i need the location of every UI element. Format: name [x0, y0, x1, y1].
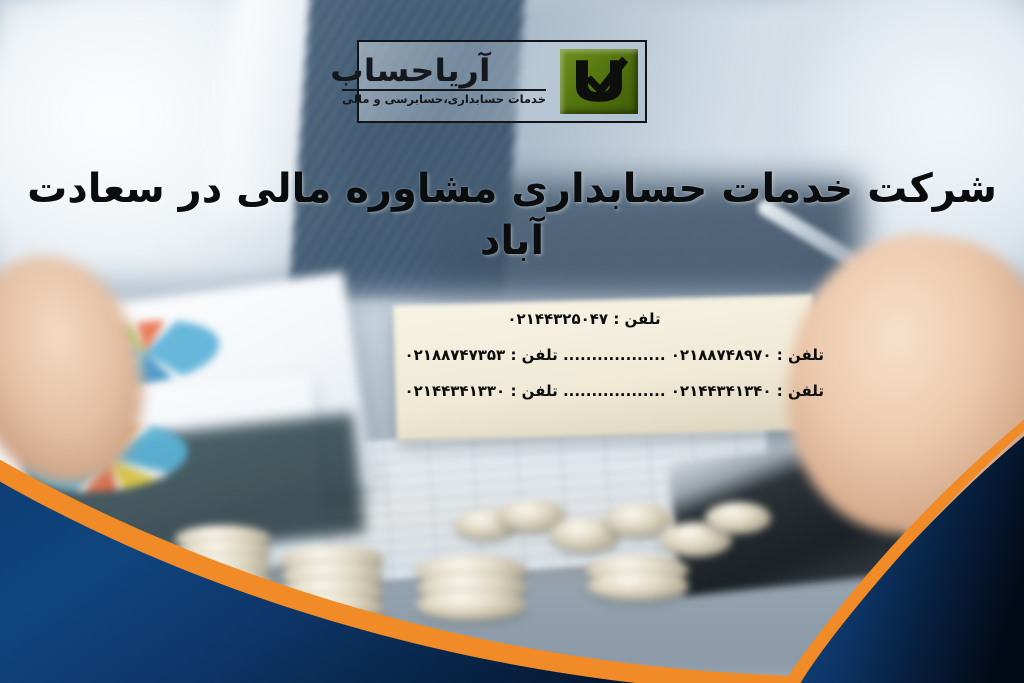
phone-number-1a: ۰۲۱۴۴۳۲۵۰۴۷	[507, 310, 608, 328]
phone-label-2b: تلفن :	[510, 346, 557, 364]
page-title: شرکت خدمات حسابداری مشاوره مالی در سعادت…	[0, 163, 1024, 267]
phone-dots-2: ..................	[563, 346, 666, 364]
banner-canvas: آریاحساب خدمات حسابداری،حسابرسی و مالی ش…	[0, 0, 1024, 683]
logo-title: آریاحساب	[330, 56, 490, 87]
phone-label-3b: تلفن :	[510, 382, 557, 400]
phone-line-1: تلفن : ۰۲۱۴۴۳۲۵۰۴۷	[404, 312, 824, 327]
logo-subtitle: خدمات حسابداری،حسابرسی و مالی	[342, 94, 546, 106]
logo-divider	[342, 89, 546, 91]
phone-label-1a: تلفن :	[613, 310, 660, 328]
phone-line-2: تلفن : ۰۲۱۸۸۷۴۸۹۷۰ .................. تل…	[404, 348, 824, 363]
phone-dots-3: ..................	[563, 382, 666, 400]
contact-phone-block: تلفن : ۰۲۱۴۴۳۲۵۰۴۷ تلفن : ۰۲۱۸۸۷۴۸۹۷۰ ..…	[404, 312, 824, 420]
green-square-checkmark-icon	[560, 49, 638, 114]
company-logo: آریاحساب خدمات حسابداری،حسابرسی و مالی	[357, 40, 647, 123]
phone-number-3b: ۰۲۱۴۴۳۴۱۳۳۰	[404, 382, 505, 400]
phone-line-3: تلفن : ۰۲۱۴۴۳۴۱۳۴۰ .................. تل…	[404, 384, 824, 399]
phone-label-3a: تلفن :	[777, 382, 824, 400]
phone-number-2a: ۰۲۱۸۸۷۴۸۹۷۰	[671, 346, 772, 364]
logo-wordmark: آریاحساب خدمات حسابداری،حسابرسی و مالی	[340, 42, 552, 121]
phone-number-2b: ۰۲۱۸۸۷۴۷۳۵۳	[404, 346, 505, 364]
phone-number-3a: ۰۲۱۴۴۳۴۱۳۴۰	[671, 382, 772, 400]
phone-label-2a: تلفن :	[777, 346, 824, 364]
